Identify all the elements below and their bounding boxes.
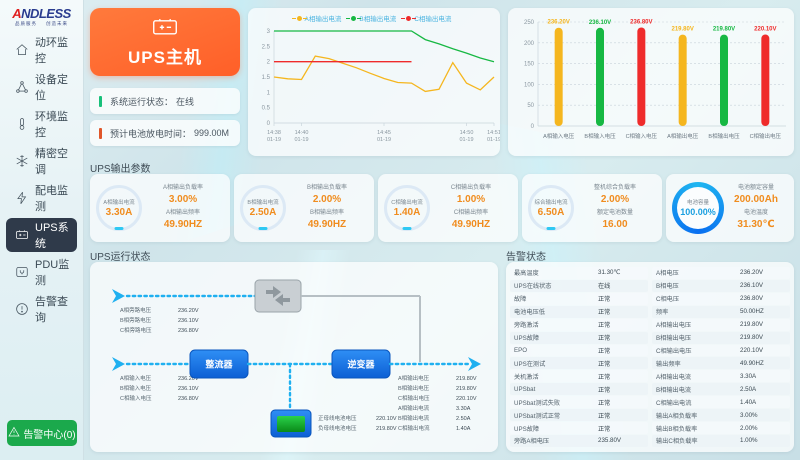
bypass-input-arrow — [112, 289, 125, 303]
alarm-center-button[interactable]: 告警中心(0) — [7, 420, 77, 446]
alarm-key: 故障 — [514, 294, 598, 303]
line-chart-plot: 00.511.522.5314:3801-1914:4001-1914:4501… — [248, 23, 500, 151]
param-value: 49.90HZ — [430, 218, 512, 231]
legend-dot — [351, 16, 356, 21]
alarm-value: 219.80V — [740, 321, 786, 328]
param-key: 整机综合负载率 — [574, 183, 656, 193]
param-value: 2.00% — [286, 193, 368, 206]
param-key: A相输出负载率 — [142, 183, 224, 193]
gauge-value: 2.50A — [250, 207, 277, 218]
legend-label: C相输出电流 — [414, 13, 451, 23]
alarm-value: 2.00% — [740, 425, 786, 432]
alarm-key: A相输出电流 — [656, 372, 740, 381]
bar-2 — [596, 28, 604, 126]
bypass-input-key: B相旁路电压 — [120, 316, 152, 324]
alarm-value: 50.00HZ — [740, 308, 786, 315]
svg-text:01-19: 01-19 — [294, 137, 308, 143]
svg-text:1.5: 1.5 — [262, 75, 271, 81]
alarm-key: 最高温度 — [514, 268, 598, 277]
alarm-key: A相电压 — [656, 268, 740, 277]
brand-logo: ANDLESS 品质服务 创造未来 — [0, 0, 83, 30]
param-key: C相输出频率 — [430, 208, 512, 218]
alarm-row: C相输出电流1.40A — [652, 396, 790, 408]
svg-text:01-19: 01-19 — [487, 137, 500, 143]
overview-row: UPS主机 系统运行状态： 在线 预计电池放电时间： 999.00M A相输出电… — [90, 8, 794, 156]
bypass-input-key: A相旁路电压 — [120, 306, 152, 314]
sidebar-item-label: UPS系统 — [35, 219, 77, 251]
current-gauge: A相输出电流3.30A — [96, 185, 142, 231]
alarm-key: 输出B相负载率 — [656, 424, 740, 433]
inverter-block-label: 逆变器 — [347, 359, 375, 370]
alarm-row: UPS故障正常 — [510, 422, 648, 434]
sidebar-item-label: 设备定位 — [35, 71, 77, 103]
param-key: B相输出频率 — [286, 208, 368, 218]
alarm-key: C相输出电压 — [656, 346, 740, 355]
svg-text:250: 250 — [524, 20, 535, 26]
status-bar-orange — [99, 128, 102, 139]
alarm-key: C相电压 — [656, 294, 740, 303]
alarm-row: UPS在线状态在线 — [510, 280, 648, 292]
param-value: 2.00% — [574, 193, 656, 206]
ups-host-title: UPS主机 — [128, 43, 202, 68]
ups-flow-diagram[interactable]: A相旁路电压236.20VB相旁路电压236.10VC相旁路电压236.80VA… — [90, 262, 498, 452]
svg-text:50: 50 — [527, 103, 534, 109]
current-gauge: C相输出电流1.40A — [384, 185, 430, 231]
alarm-value: 正常 — [598, 424, 644, 433]
bar-value-label: 236.80V — [630, 19, 652, 25]
alarm-key: B相电压 — [656, 281, 740, 290]
alarm-key: EPO — [514, 347, 598, 354]
bar-category-label: B相输入电压 — [584, 132, 616, 140]
alarm-row: C相电压236.80V — [652, 293, 790, 305]
alarm-row: B相电压236.10V — [652, 280, 790, 292]
param-value: 49.90HZ — [286, 218, 368, 231]
mains-input-key: C相输入电压 — [120, 394, 152, 402]
discharge-time-pill: 预计电池放电时间： 999.00M — [90, 120, 240, 146]
warning-triangle-icon — [8, 426, 20, 441]
svg-text:0: 0 — [531, 124, 535, 130]
gauge-label: B相输出电流 — [247, 199, 278, 207]
gauge-value: 100.00% — [680, 207, 716, 217]
svg-text:100: 100 — [524, 82, 535, 88]
gauge-label: 电池容量 — [687, 199, 709, 207]
legend-item-1[interactable]: A相输出电流 — [297, 13, 342, 23]
system-status-value: 在线 — [176, 95, 194, 108]
alarm-key: B相输出电流 — [656, 385, 740, 394]
alarm-row: 输出B相负载率2.00% — [652, 422, 790, 434]
bypass-input-value: 236.20V — [178, 308, 199, 314]
bar-chart-plot: 050100150200250236.20VA相输入电压236.10VB相输入电… — [508, 8, 794, 156]
svg-text:14:40: 14:40 — [295, 130, 309, 136]
legend-dot — [297, 16, 302, 21]
svg-text:01-19: 01-19 — [459, 137, 473, 143]
svg-text:14:50: 14:50 — [460, 130, 474, 136]
alarm-key: 电池电压低 — [514, 307, 598, 316]
thermometer-icon — [14, 117, 29, 132]
output-key: A相输出电压 — [398, 374, 430, 382]
output-key: A相输出电流 — [398, 404, 430, 412]
alarm-value: 3.30A — [740, 373, 786, 380]
gauge-label: A相输出电流 — [103, 199, 134, 207]
bar-value-label: 219.80V — [671, 27, 693, 33]
param-key: 额定电池数量 — [574, 208, 656, 218]
status-bar-green — [99, 96, 102, 107]
gauge-label: 综合输出电流 — [534, 199, 567, 207]
alarm-value: 2.50A — [740, 386, 786, 393]
sidebar-item-label: 配电监测 — [35, 182, 77, 214]
svg-text:14:45: 14:45 — [377, 130, 391, 136]
alarm-value: 219.80V — [740, 334, 786, 341]
sidebar-item-4[interactable]: 精密空调 — [6, 144, 77, 178]
alarm-row: 故障正常 — [510, 293, 648, 305]
bypass-input-value: 236.10V — [178, 318, 199, 324]
svg-text:0: 0 — [267, 121, 271, 127]
alarm-value: 1.00% — [740, 437, 786, 444]
brand-name: ANDLESS — [12, 7, 71, 20]
alarm-row: 最高温度31.30℃ — [510, 267, 648, 279]
alarm-row: C相输出电压220.10V — [652, 345, 790, 357]
snowflake-icon — [14, 154, 29, 169]
alarm-row: A相输出电压219.80V — [652, 319, 790, 331]
battery-value: 219.80V — [376, 426, 397, 432]
gauge-value: 1.40A — [394, 207, 421, 218]
alarm-key: UPSbat测试失败 — [514, 398, 598, 407]
flow-diagram-svg: A相旁路电压236.20VB相旁路电压236.10VC相旁路电压236.80VA… — [90, 262, 498, 452]
output-key: C相输出电流 — [398, 424, 430, 432]
param-value: 49.90HZ — [142, 218, 224, 231]
alarm-key: 输出频率 — [656, 359, 740, 368]
alarm-value: 正常 — [598, 346, 644, 355]
sidebar-item-5[interactable]: 配电监测 — [6, 181, 77, 215]
alarm-value: 3.00% — [740, 412, 786, 419]
output-param-card-2[interactable]: B相输出电流2.50AB相输出负载率2.00%B相输出频率49.90HZ — [234, 174, 374, 242]
bar-value-label: 236.10V — [589, 20, 611, 26]
mains-input-value: 236.80V — [178, 396, 199, 402]
brand-tagline-right: 创造未来 — [46, 21, 68, 26]
current-gauge: 综合输出电流6.50A — [528, 185, 574, 231]
legend-item-2[interactable]: B相输出电流 — [351, 13, 396, 23]
alarm-value: 正常 — [598, 307, 644, 316]
svg-text:200: 200 — [524, 41, 535, 47]
alarm-value: 31.30℃ — [598, 269, 644, 276]
alarm-row: 频率50.00HZ — [652, 306, 790, 318]
bar-5 — [720, 35, 728, 126]
param-list: C相输出负载率1.00%C相输出频率49.90HZ — [430, 183, 512, 233]
output-value: 3.30A — [456, 406, 471, 412]
alarm-row: 输出频率49.90HZ — [652, 357, 790, 369]
alarm-key: C相输出电流 — [656, 398, 740, 407]
alarm-value: 正常 — [598, 411, 644, 420]
alarm-row: 电池电压低正常 — [510, 306, 648, 318]
alarm-key: 旁路激活 — [514, 320, 598, 329]
current-gauge: B相输出电流2.50A — [240, 185, 286, 231]
bypass-input-value: 236.80V — [178, 328, 199, 334]
output-value: 219.80V — [456, 376, 477, 382]
output-params-row: A相输出电流3.30AA相输出负载率3.00%A相输出频率49.90HZB相输出… — [90, 174, 794, 242]
alarm-key: 关机激活 — [514, 372, 598, 381]
svg-text:3: 3 — [267, 29, 271, 35]
param-list: 电池额定容量200.00Ah电池温度31.30℃ — [724, 183, 788, 233]
line-chart-legend: A相输出电流B相输出电流C相输出电流 — [248, 8, 500, 23]
param-key: 电池温度 — [724, 208, 788, 218]
alarm-value: 正常 — [598, 320, 644, 329]
bar-category-label: A相输入电压 — [543, 132, 575, 140]
bar-category-label: C相输入电压 — [626, 132, 658, 140]
bar-category-label: A相输出电压 — [667, 132, 699, 140]
sidebar-item-label: 精密空调 — [35, 145, 77, 177]
alarm-key: UPS故障 — [514, 424, 598, 433]
svg-text:0.5: 0.5 — [262, 106, 271, 112]
alarm-table-left: 最高温度31.30℃UPS在线状态在线故障正常电池电压低正常旁路激活正常UPS故… — [510, 267, 648, 447]
sidebar-item-2[interactable]: 设备定位 — [6, 70, 77, 104]
alarm-value: 正常 — [598, 398, 644, 407]
battery-capacity-ring: 电池容量100.00% — [672, 182, 724, 234]
gauge-value: 6.50A — [538, 207, 565, 218]
bar-4 — [679, 35, 687, 126]
alarm-row: 关机激活正常 — [510, 370, 648, 382]
discharge-time-value: 999.00M — [194, 128, 229, 138]
bolt-icon — [14, 191, 29, 206]
alarm-row: UPS在测试正常 — [510, 357, 648, 369]
svg-text:01-19: 01-19 — [377, 137, 391, 143]
brand-name-text: NDLESS — [21, 6, 71, 21]
alarm-section-title: 告警状态 — [506, 248, 546, 263]
node-icon — [14, 80, 29, 95]
alarm-key: 输出C相负载率 — [656, 436, 740, 445]
alarm-key: UPS在线状态 — [514, 281, 598, 290]
alarm-row: UPS故障正常 — [510, 332, 648, 344]
output-value: 220.10V — [456, 396, 477, 402]
system-status-pill: 系统运行状态： 在线 — [90, 88, 240, 114]
sidebar-item-6[interactable]: UPS系统 — [6, 218, 77, 252]
system-status-label: 系统运行状态： — [110, 95, 173, 108]
alarm-status-panel: 最高温度31.30℃UPS在线状态在线故障正常电池电压低正常旁路激活正常UPS故… — [506, 262, 794, 452]
main-content: UPS主机 系统运行状态： 在线 预计电池放电时间： 999.00M A相输出电… — [84, 0, 800, 460]
sidebar: ANDLESS 品质服务 创造未来 动环监控设备定位环境监控精密空调配电监测UP… — [0, 0, 84, 460]
bypass-input-key: C相旁路电压 — [120, 326, 152, 334]
diagram-section-title: UPS运行状态 — [90, 248, 151, 263]
alarm-row: B相输出电压219.80V — [652, 332, 790, 344]
legend-item-3[interactable]: C相输出电流 — [406, 13, 451, 23]
mains-input-value: 236.10V — [178, 386, 199, 392]
alarm-value: 220.10V — [740, 347, 786, 354]
param-value: 1.00% — [430, 193, 512, 206]
output-param-card-4[interactable]: 综合输出电流6.50A整机综合负载率2.00%额定电池数量16.00 — [522, 174, 662, 242]
alarm-row: A相输出电流3.30A — [652, 370, 790, 382]
output-arrow — [468, 357, 481, 371]
output-current-line-chart[interactable]: A相输出电流B相输出电流C相输出电流 00.511.522.5314:3801-… — [248, 8, 500, 156]
sidebar-item-label: 动环监控 — [35, 34, 77, 66]
output-param-card-1[interactable]: A相输出电流3.30AA相输出负载率3.00%A相输出频率49.90HZ — [90, 174, 230, 242]
alarm-value: 正常 — [598, 385, 644, 394]
gauge-value: 3.30A — [106, 207, 133, 218]
alarm-value: 236.80V — [740, 295, 786, 302]
sidebar-nav: 动环监控设备定位环境监控精密空调配电监测UPS系统PDU监测告警查询 — [0, 33, 83, 326]
output-value: 219.80V — [456, 386, 477, 392]
alarm-value: 正常 — [598, 294, 644, 303]
output-value: 2.50A — [456, 416, 471, 422]
sidebar-item-7[interactable]: PDU监测 — [6, 255, 77, 289]
alarm-value: 正常 — [598, 372, 644, 381]
param-key: B相输出负载率 — [286, 183, 368, 193]
alarm-row: 旁路A相电压235.80V — [510, 435, 648, 447]
line-series-2 — [274, 31, 494, 62]
svg-text:14:38: 14:38 — [267, 130, 281, 136]
output-key: B相输出电流 — [398, 414, 430, 422]
bar-value-label: 220.10V — [754, 26, 776, 32]
alarm-row: B相输出电流2.50A — [652, 383, 790, 395]
param-key: 电池额定容量 — [724, 183, 788, 193]
battery-icon — [277, 416, 305, 432]
svg-text:01-19: 01-19 — [267, 137, 281, 143]
param-value: 16.00 — [574, 218, 656, 231]
legend-label: B相输出电流 — [359, 13, 396, 23]
bar-category-label: B相输出电压 — [708, 132, 740, 140]
param-value: 31.30℃ — [724, 218, 788, 231]
mains-input-arrow — [112, 357, 125, 371]
alarm-value: 正常 — [598, 359, 644, 368]
alarm-center-label: 告警中心(0) — [23, 426, 75, 441]
legend-label: A相输出电流 — [305, 13, 342, 23]
home-icon — [14, 43, 29, 58]
bypass-block — [255, 280, 301, 312]
alarm-key: A相输出电压 — [656, 320, 740, 329]
alarm-row: EPO正常 — [510, 345, 648, 357]
sidebar-item-label: PDU监测 — [35, 256, 77, 288]
sidebar-item-1[interactable]: 动环监控 — [6, 33, 77, 67]
alarm-key: UPS在测试 — [514, 359, 598, 368]
sidebar-item-3[interactable]: 环境监控 — [6, 107, 77, 141]
pdu-icon — [14, 265, 29, 280]
sidebar-item-label: 告警查询 — [35, 293, 77, 325]
output-section-title: UPS输出参数 — [90, 160, 151, 175]
ups-host-card[interactable]: UPS主机 — [90, 8, 240, 76]
bar-value-label: 219.80V — [713, 27, 735, 33]
alert-circle-icon — [14, 302, 29, 317]
alarm-row: A相电压236.20V — [652, 267, 790, 279]
alarm-table-right: A相电压236.20VB相电压236.10VC相电压236.80V频率50.00… — [652, 267, 790, 447]
svg-text:150: 150 — [524, 62, 535, 68]
alarm-value: 49.90HZ — [740, 360, 786, 367]
bar-category-label: C相输出电压 — [750, 132, 782, 140]
brand-tagline: 品质服务 创造未来 — [15, 20, 68, 27]
alarm-key: UPSbat — [514, 386, 598, 393]
alarm-key: UPSbat测试正常 — [514, 411, 598, 420]
alarm-row: 旁路激活正常 — [510, 319, 648, 331]
output-param-card-5[interactable]: 电池容量100.00%电池额定容量200.00Ah电池温度31.30℃ — [666, 174, 794, 242]
alarm-value: 236.10V — [740, 282, 786, 289]
gauge-label: C相输出电流 — [391, 199, 422, 207]
sidebar-item-label: 环境监控 — [35, 108, 77, 140]
alarm-key: B相输出电压 — [656, 333, 740, 342]
output-key: B相输出电压 — [398, 384, 430, 392]
output-value: 1.40A — [456, 426, 471, 432]
output-param-card-3[interactable]: C相输出电流1.40AC相输出负载率1.00%C相输出频率49.90HZ — [378, 174, 518, 242]
rectifier-block-label: 整流器 — [204, 359, 233, 370]
param-list: 整机综合负载率2.00%额定电池数量16.00 — [574, 183, 656, 233]
mains-input-key: A相输入电压 — [120, 374, 152, 382]
bar-6 — [761, 34, 769, 126]
battery-key: 负母线电池电压 — [318, 424, 357, 432]
svg-text:1: 1 — [267, 90, 271, 96]
alarm-value: 1.40A — [740, 399, 786, 406]
alarm-row: UPSbat正常 — [510, 383, 648, 395]
mains-input-key: B相输入电压 — [120, 384, 152, 392]
sidebar-item-8[interactable]: 告警查询 — [6, 292, 77, 326]
discharge-time-label: 预计电池放电时间： — [110, 127, 191, 140]
param-value: 3.00% — [142, 193, 224, 206]
svg-text:2.5: 2.5 — [262, 44, 271, 50]
battery-icon — [14, 228, 29, 243]
svg-text:2: 2 — [267, 60, 271, 66]
param-list: B相输出负载率2.00%B相输出频率49.90HZ — [286, 183, 368, 233]
battery-icon — [152, 16, 178, 41]
bar-value-label: 236.20V — [547, 20, 569, 26]
param-key: C相输出负载率 — [430, 183, 512, 193]
alarm-value: 236.20V — [740, 269, 786, 276]
param-key: A相输出频率 — [142, 208, 224, 218]
alarm-row: UPSbat测试正常正常 — [510, 409, 648, 421]
alarm-key: 频率 — [656, 307, 740, 316]
bar-3 — [637, 27, 645, 126]
alarm-row: UPSbat测试失败正常 — [510, 396, 648, 408]
bar-1 — [555, 28, 563, 126]
battery-value: 220.10V — [376, 416, 397, 422]
alarm-row: 输出C相负载率1.00% — [652, 435, 790, 447]
legend-dot — [406, 16, 411, 21]
alarm-value: 正常 — [598, 333, 644, 342]
alarm-value: 235.80V — [598, 437, 644, 444]
alarm-key: 输出A相负载率 — [656, 411, 740, 420]
alarm-key: UPS故障 — [514, 333, 598, 342]
alarm-key: 旁路A相电压 — [514, 436, 598, 445]
alarm-value: 在线 — [598, 281, 644, 290]
alarm-row: 输出A相负载率3.00% — [652, 409, 790, 421]
param-value: 200.00Ah — [724, 193, 788, 206]
brand-tagline-left: 品质服务 — [15, 21, 37, 26]
param-list: A相输出负载率3.00%A相输出频率49.90HZ — [142, 183, 224, 233]
voltage-bar-chart[interactable]: 050100150200250236.20VA相输入电压236.10VB相输入电… — [508, 8, 794, 156]
output-key: C相输出电压 — [398, 394, 430, 402]
battery-key: 正母线电池电压 — [318, 414, 357, 422]
svg-text:14:51: 14:51 — [487, 130, 500, 136]
